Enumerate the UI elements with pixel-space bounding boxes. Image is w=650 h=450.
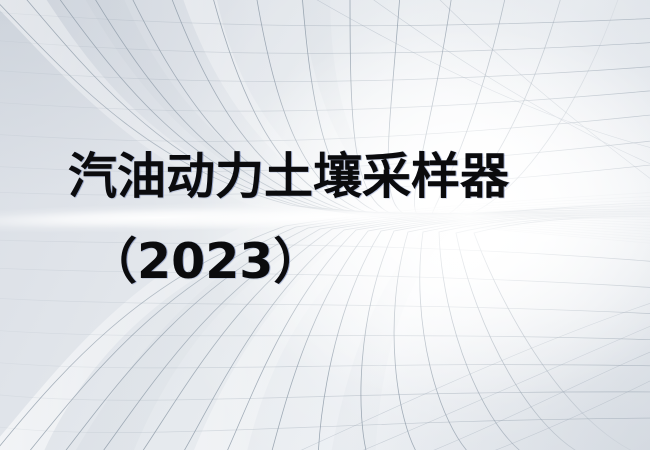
title-block: 汽油动力土壤采样器 （2023） [0, 0, 650, 450]
slide-title-line-2: （2023） [88, 233, 322, 291]
slide-title-line-1: 汽油动力土壤采样器 [68, 148, 509, 206]
title-slide: 汽油动力土壤采样器 （2023） [0, 0, 650, 450]
